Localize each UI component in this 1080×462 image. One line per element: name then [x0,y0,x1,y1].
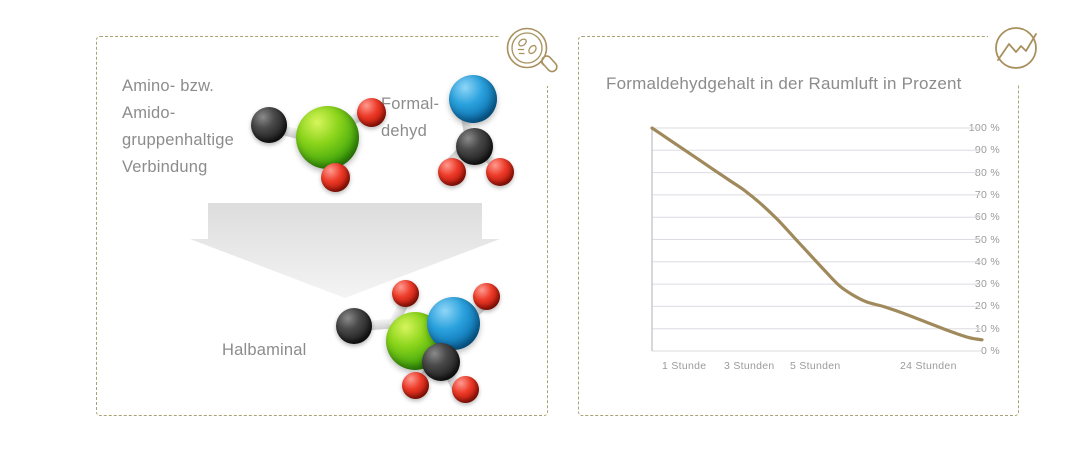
halbaminal-molecule [330,280,500,400]
atom-oxygen [473,283,500,310]
chart-svg [650,120,990,360]
amino-compound-molecule [245,85,380,195]
atom-carbon [251,107,287,143]
atom-carbon [422,343,460,381]
atom-nitrogen [449,75,497,123]
formaldehyde-molecule [438,72,533,187]
atom-oxygen [321,163,350,192]
x-axis-tick-label: 5 Stunden [790,360,841,372]
chart-plot-area: 100 %90 %80 %70 %60 %50 %40 %30 %20 %10 … [600,120,1000,370]
atom-oxygen [357,98,386,127]
data-series-line [652,128,982,340]
atom-carbon [456,128,493,165]
atom-oxygen [452,376,479,403]
infographic-canvas: Amino- bzw. Amido- gruppenhaltige Verbin… [0,0,1080,462]
atom-oxygen [486,158,514,186]
x-axis-tick-label: 24 Stunden [900,360,957,372]
atom-oxygen [402,372,429,399]
chart-title: Formaldehydgehalt in der Raumluft in Pro… [606,74,962,94]
atom-carbon [336,308,372,344]
x-axis-tick-label: 1 Stunde [662,360,706,372]
atom-amine-group [296,106,359,169]
atom-oxygen [438,158,466,186]
trend-chart-circle-icon [988,20,1052,84]
atom-oxygen [392,280,419,307]
x-axis-tick-label: 3 Stunden [724,360,775,372]
atom-nitrogen [427,297,480,350]
